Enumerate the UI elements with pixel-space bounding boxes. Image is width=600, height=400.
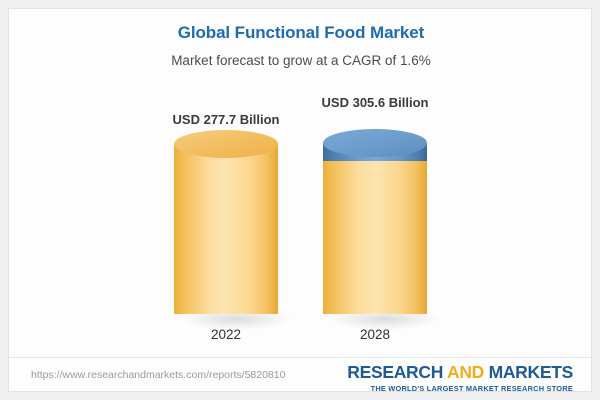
report-url[interactable]: https://www.researchandmarkets.com/repor… [31,369,285,381]
bar-value-label-2028: USD 305.6 Billion [270,95,480,110]
bar-segment-base-2022 [174,144,278,314]
bar-body [174,144,278,314]
logo-word-research: RESEARCH [347,362,443,382]
logo-tagline: THE WORLD'S LARGEST MARKET RESEARCH STOR… [347,385,573,392]
bar-body [323,157,427,314]
logo-word-markets: MARKETS [489,362,573,382]
bar-top-ellipse [174,130,278,158]
bar-group-2028[interactable]: USD 305.6 Billion [323,127,427,314]
bar-value-label-2022: USD 277.7 Billion [121,112,331,127]
category-label-2022: 2022 [174,327,278,342]
chart-card: Global Functional Food Market Market for… [8,8,592,392]
logo-wordmark: RESEARCH AND MARKETS [347,364,573,382]
plot-area: USD 277.7 Billion USD 305.6 Billion 2022 [9,9,593,349]
bar-group-2022[interactable]: USD 277.7 Billion [174,144,278,314]
research-and-markets-logo[interactable]: RESEARCH AND MARKETS THE WORLD'S LARGEST… [347,364,573,392]
logo-word-and-text: AND [447,362,484,382]
bar-top-ellipse [323,129,427,157]
category-label-2028: 2028 [323,327,427,342]
bar-segment-base-2028 [323,157,427,314]
footer-divider [9,357,591,358]
bar-segment-growth-2028 [323,143,427,161]
